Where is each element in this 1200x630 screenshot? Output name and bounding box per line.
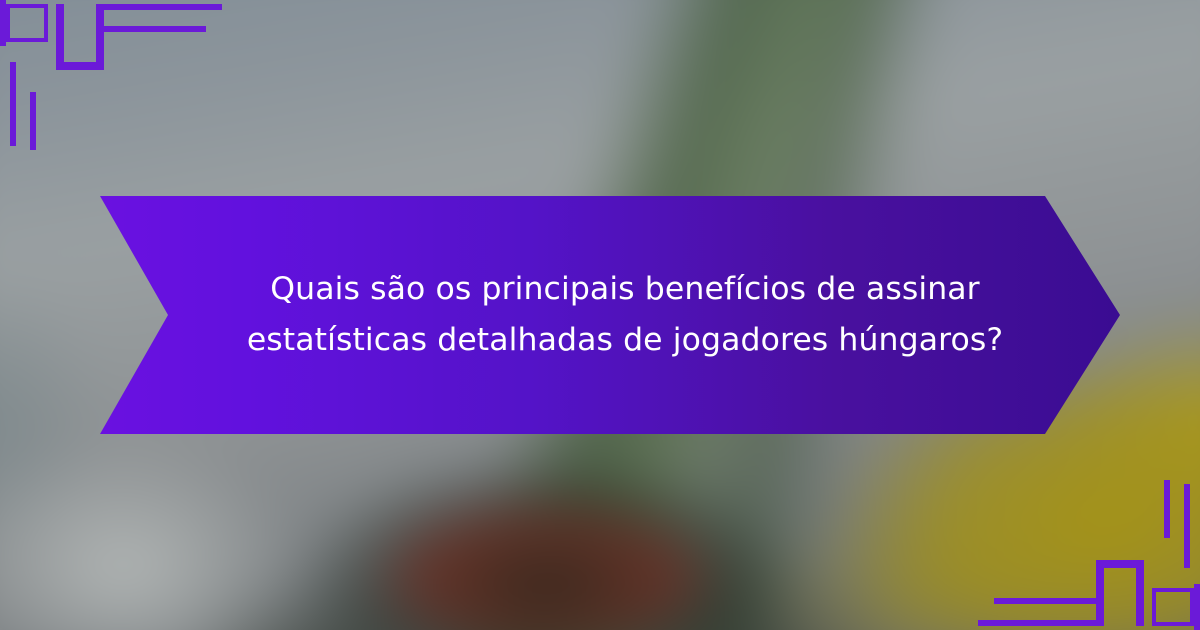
headline-banner: Quais são os principais benefícios de as… [100,196,1120,434]
headline-text: Quais são os principais benefícios de as… [215,264,1005,366]
share-card: Quais são os principais benefícios de as… [0,0,1200,630]
